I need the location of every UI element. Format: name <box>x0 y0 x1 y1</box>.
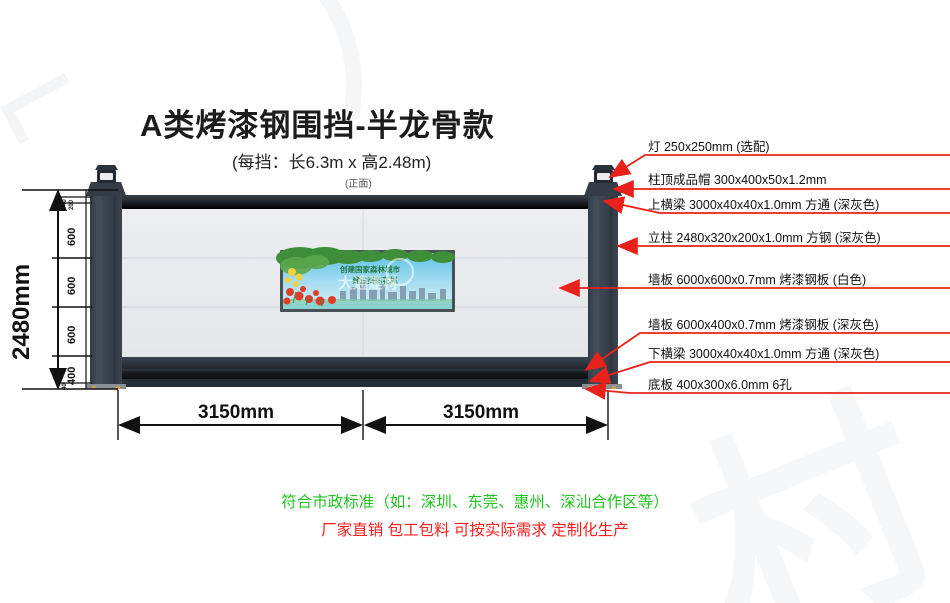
billboard-poster: 创建国家森林城市 建设美丽花城 大通建材 <box>276 247 455 312</box>
top-beam-graphic <box>116 195 610 209</box>
bottom-beam-graphic <box>116 379 610 387</box>
width-label-right: 3150mm <box>443 402 519 424</box>
left-column-graphic <box>90 196 122 386</box>
annotation-bottom-beam: 下横梁 3000x40x40x1.0mm 方通 (深灰色) <box>648 348 879 361</box>
billboard-watermark: 大通建材 <box>338 274 398 292</box>
tick-label-40-bottom: 40 <box>62 383 68 390</box>
billboard-slogan-1: 创建国家森林城市 <box>339 264 400 274</box>
tick-label-40-top: 40 <box>62 199 68 206</box>
annotation-top-beam: 上横梁 3000x40x40x1.0mm 方通 (深灰色) <box>648 199 879 212</box>
left-post-cap-graphic <box>86 182 126 196</box>
footer-sales-note: 厂家直销 包工包料 可按实际需求 定制化生产 <box>0 518 950 540</box>
footer-standards-note: 符合市政标准（如：深圳、东莞、惠州、深汕合作区等） <box>0 490 950 512</box>
annotation-base-plate: 底板 400x300x6.0mm 6孔 <box>648 379 792 392</box>
tick-label-600-2: 600 <box>66 277 78 295</box>
drawing-canvas: ⌐ 村 A类烤漆钢围挡-半龙骨款 (每挡：长6.3m x 高2.48m) (正面… <box>0 0 950 603</box>
fence-drawing: 创建国家森林城市 建设美丽花城 大通建材 <box>0 0 950 603</box>
annotation-post-cap: 柱顶成品帽 300x400x50x1.2mm <box>648 174 827 187</box>
tick-label-600-3: 600 <box>66 326 78 344</box>
overall-height-label: 2480mm <box>8 264 36 360</box>
annotation-panel-white: 墙板 6000x600x0.7mm 烤漆钢板 (白色) <box>648 274 866 287</box>
width-label-left: 3150mm <box>198 402 274 424</box>
tick-label-200: 200 <box>69 200 75 210</box>
annotation-column: 立柱 2480x320x200x1.0mm 方钢 (深灰色) <box>648 232 881 245</box>
tick-label-600-1: 600 <box>66 228 78 246</box>
annotation-panel-gray: 墙板 6000x400x0.7mm 烤漆钢板 (深灰色) <box>648 319 879 332</box>
annotation-lamp: 灯 250x250mm (选配) <box>648 141 770 154</box>
